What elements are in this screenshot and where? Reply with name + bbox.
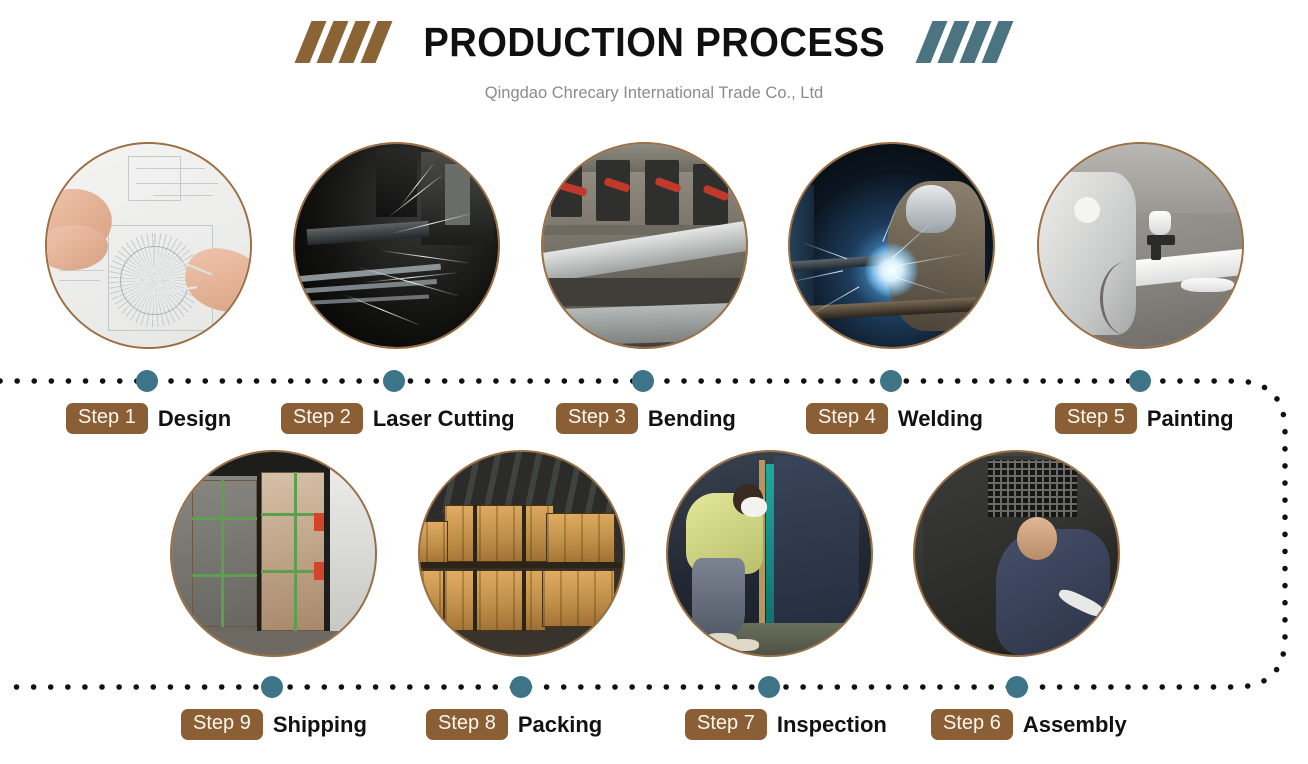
step-photo-assembly — [913, 450, 1120, 657]
flow-node-step-8 — [510, 676, 532, 698]
wooden-crates-photo — [420, 452, 623, 655]
step-label-4[interactable]: Step 4 Welding — [806, 403, 983, 434]
flow-node-step-7 — [758, 676, 780, 698]
step-badge: Step 1 — [66, 403, 148, 434]
step-name: Packing — [518, 712, 602, 738]
step-photo-painting — [1037, 142, 1244, 349]
step-name: Assembly — [1023, 712, 1127, 738]
step-label-3[interactable]: Step 3 Bending — [556, 403, 736, 434]
welding-arc-photo — [790, 144, 993, 347]
step-label-6[interactable]: Step 6 Assembly — [931, 709, 1127, 740]
step-photo-shipping — [170, 450, 377, 657]
step-badge: Step 7 — [685, 709, 767, 740]
flow-node-step-6 — [1006, 676, 1028, 698]
title-row: PRODUCTION PROCESS — [0, 14, 1308, 70]
cabinet-inspection-photo — [668, 452, 871, 655]
step-badge: Step 3 — [556, 403, 638, 434]
step-photo-inspection — [666, 450, 873, 657]
step-name: Inspection — [777, 712, 887, 738]
right-accent-slashes — [924, 20, 1005, 64]
blueprint-drawing-photo — [47, 144, 250, 347]
flow-node-step-3 — [632, 370, 654, 392]
step-badge: Step 2 — [281, 403, 363, 434]
truck-loading-photo — [172, 452, 375, 655]
step-label-2[interactable]: Step 2 Laser Cutting — [281, 403, 515, 434]
panel-assembly-photo — [915, 452, 1118, 655]
step-name: Painting — [1147, 406, 1234, 432]
left-accent-slashes — [303, 20, 384, 64]
flow-node-step-4 — [880, 370, 902, 392]
laser-cutting-photo — [295, 144, 498, 347]
step-photo-welding — [788, 142, 995, 349]
step-name: Design — [158, 406, 231, 432]
step-name: Bending — [648, 406, 736, 432]
flow-node-step-2 — [383, 370, 405, 392]
flow-node-step-9 — [261, 676, 283, 698]
step-photo-bending — [541, 142, 748, 349]
step-name: Welding — [898, 406, 983, 432]
step-label-5[interactable]: Step 5 Painting — [1055, 403, 1234, 434]
page-title: PRODUCTION PROCESS — [423, 19, 885, 66]
step-photo-packing — [418, 450, 625, 657]
step-badge: Step 4 — [806, 403, 888, 434]
step-label-9[interactable]: Step 9 Shipping — [181, 709, 367, 740]
step-badge: Step 9 — [181, 709, 263, 740]
step-label-7[interactable]: Step 7 Inspection — [685, 709, 887, 740]
step-badge: Step 6 — [931, 709, 1013, 740]
step-photo-laser-cutting — [293, 142, 500, 349]
step-name: Shipping — [273, 712, 367, 738]
page-header: PRODUCTION PROCESS Qingdao Chrecary Inte… — [0, 0, 1308, 103]
company-name: Qingdao Chrecary International Trade Co.… — [0, 84, 1308, 103]
flow-node-step-5 — [1129, 370, 1151, 392]
step-badge: Step 5 — [1055, 403, 1137, 434]
step-label-8[interactable]: Step 8 Packing — [426, 709, 602, 740]
step-photo-design — [45, 142, 252, 349]
step-badge: Step 8 — [426, 709, 508, 740]
step-name: Laser Cutting — [373, 406, 515, 432]
press-brake-photo — [543, 144, 746, 347]
spray-painting-photo — [1039, 144, 1242, 347]
flow-node-step-1 — [136, 370, 158, 392]
step-label-1[interactable]: Step 1 Design — [66, 403, 231, 434]
